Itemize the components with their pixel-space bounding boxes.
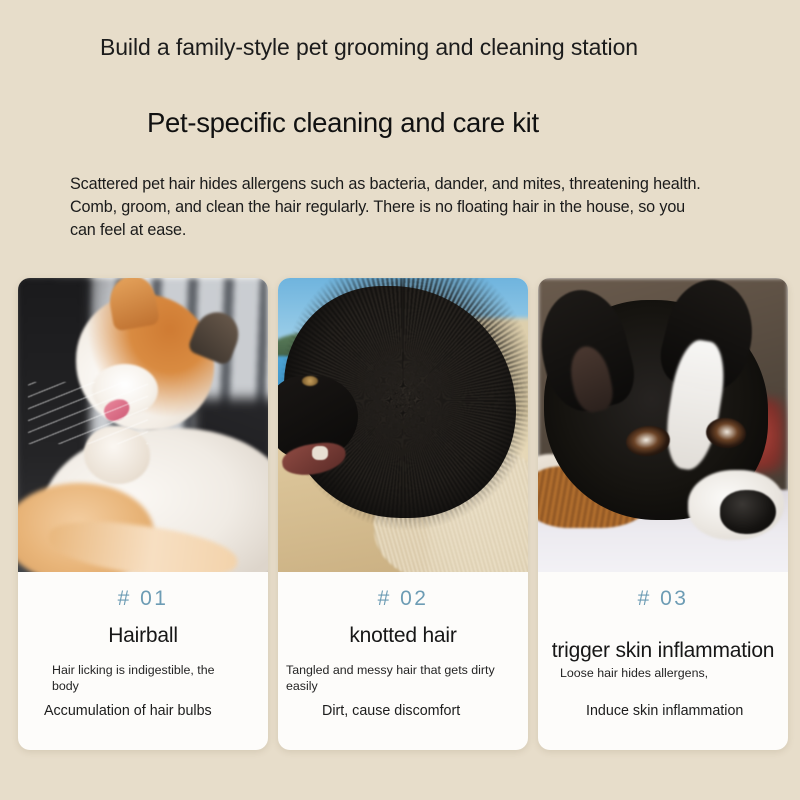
page-subheadline: Pet-specific cleaning and care kit	[147, 107, 657, 139]
dog-eye	[302, 376, 318, 386]
card-body: # 03 trigger skin inflammation Loose hai…	[538, 572, 788, 750]
card-photo-border-collie	[538, 278, 788, 572]
card-description-primary: Hair licking is indigestible, the body	[52, 663, 232, 694]
dog-tooth	[312, 446, 328, 460]
card-description-secondary: Induce skin inflammation	[586, 703, 743, 720]
card-photo-wet-dog-beach	[278, 278, 528, 572]
page-lede-paragraph: Scattered pet hair hides allergens such …	[70, 173, 706, 242]
card-description-secondary: Dirt, cause discomfort	[322, 703, 460, 720]
feature-card-knotted-hair[interactable]: # 02 knotted hair Tangled and messy hair…	[278, 278, 528, 750]
card-body: # 02 knotted hair Tangled and messy hair…	[278, 572, 528, 750]
collie-nose	[720, 490, 776, 534]
card-number: # 03	[538, 588, 788, 609]
card-photo-cat-grooming	[18, 278, 268, 572]
card-title: Hairball	[18, 624, 268, 647]
feature-card-skin-inflammation[interactable]: # 03 trigger skin inflammation Loose hai…	[538, 278, 788, 750]
card-description-secondary: Accumulation of hair bulbs	[44, 703, 212, 720]
cat-whiskers	[28, 382, 148, 444]
card-description-primary: Loose hair hides allergens,	[560, 666, 708, 682]
card-title: trigger skin inflammation	[531, 639, 795, 662]
page-headline: Build a family-style pet grooming and cl…	[100, 33, 660, 61]
feature-card-row: # 01 Hairball Hair licking is indigestib…	[18, 278, 788, 750]
card-description-primary: Tangled and messy hair that gets dirty e…	[286, 663, 516, 694]
card-number: # 01	[18, 588, 268, 609]
card-body: # 01 Hairball Hair licking is indigestib…	[18, 572, 268, 750]
promo-page: Build a family-style pet grooming and cl…	[0, 0, 800, 800]
feature-card-hairball[interactable]: # 01 Hairball Hair licking is indigestib…	[18, 278, 268, 750]
card-title: knotted hair	[278, 624, 528, 647]
card-number: # 02	[278, 588, 528, 609]
